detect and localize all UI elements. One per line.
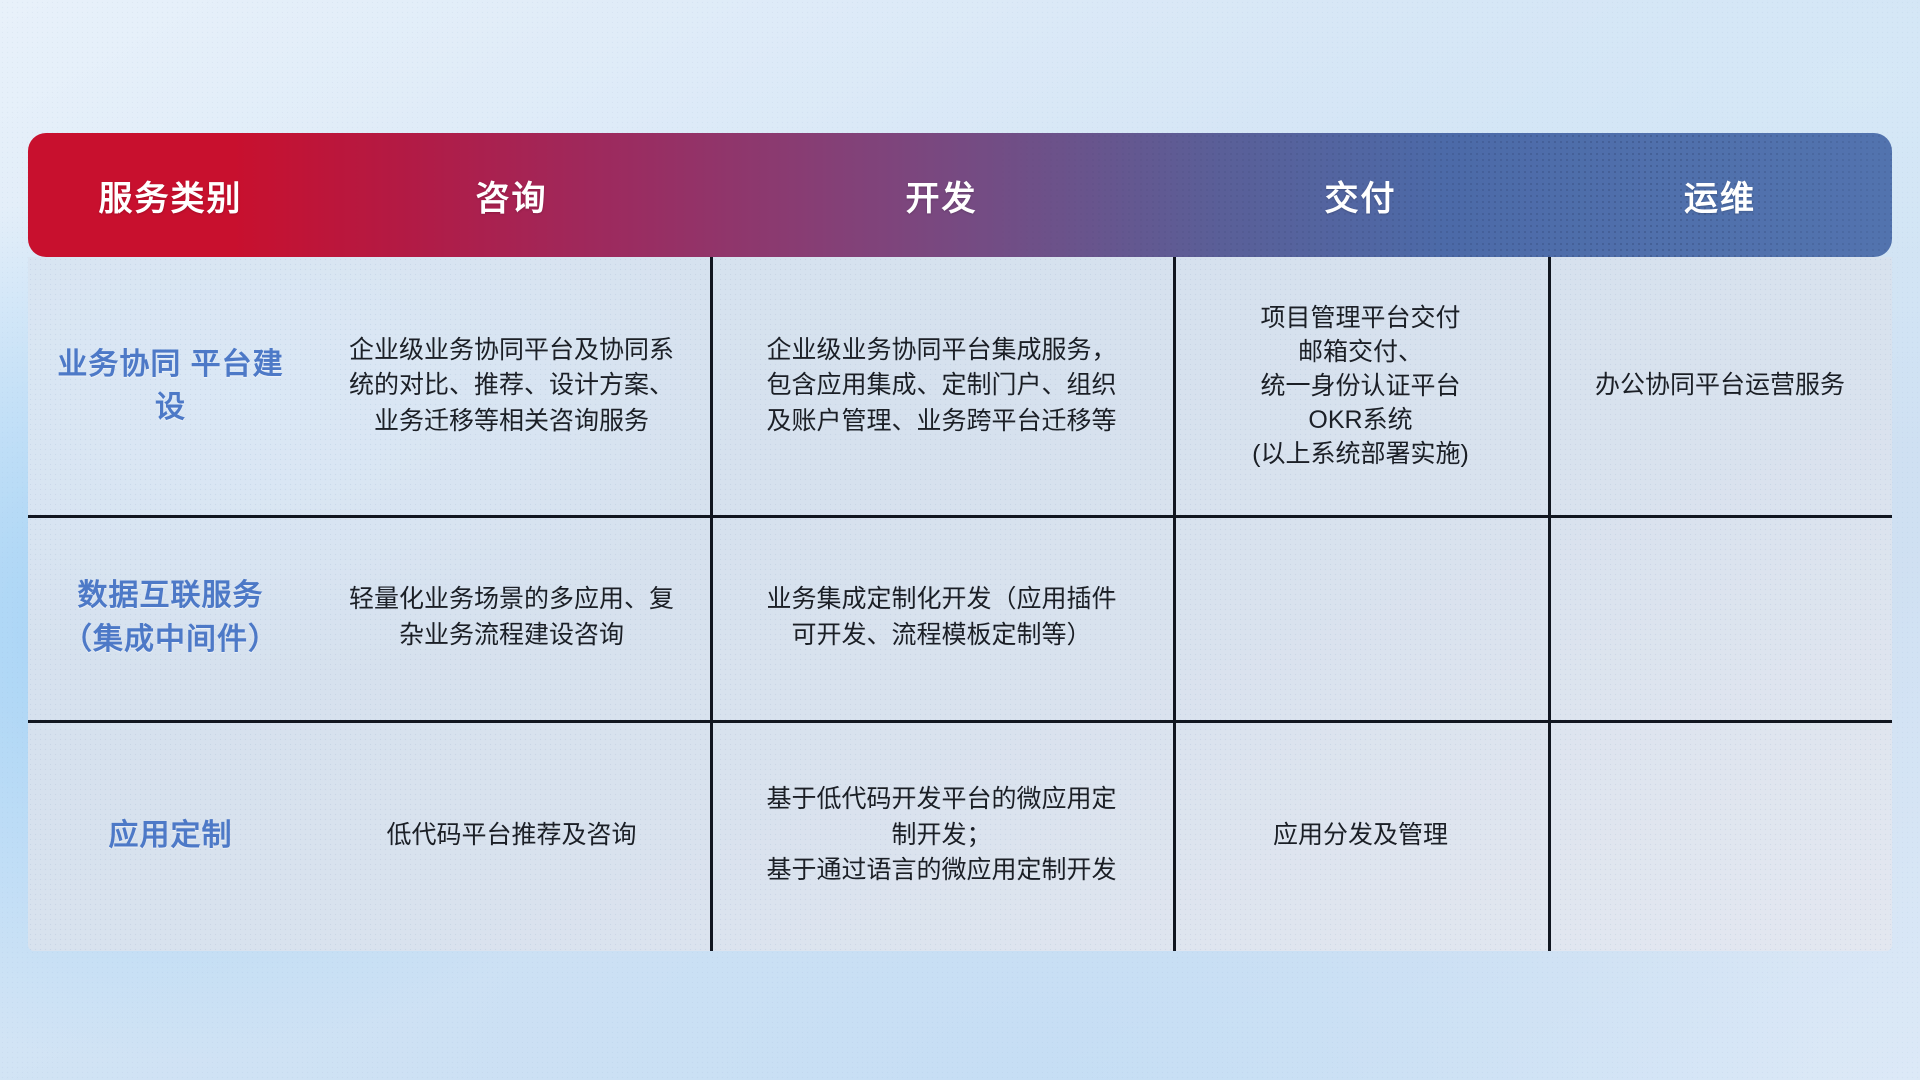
cell-consulting-text: 低代码平台推荐及咨询	[386, 818, 636, 854]
cell-delivery: 应用分发及管理	[1173, 720, 1548, 951]
cell-delivery: 项目管理平台交付 邮箱交付、 统一身份认证平台 OKR系统 (以上系统部署实施)	[1173, 257, 1548, 515]
cell-delivery-text: 项目管理平台交付 邮箱交付、 统一身份认证平台 OKR系统 (以上系统部署实施)	[1252, 301, 1469, 471]
column-header-operations: 运维	[1548, 133, 1892, 257]
column-header-development-label: 开发	[906, 171, 978, 220]
row-label-text: 业务协同 平台建设	[42, 343, 299, 430]
column-header-consulting: 咨询	[313, 133, 710, 257]
cell-delivery	[1173, 515, 1548, 720]
cell-development: 基于低代码开发平台的微应用定 制开发； 基于通过语言的微应用定制开发	[710, 720, 1173, 951]
cell-operations	[1548, 515, 1892, 720]
table-header-row: 服务类别 咨询 开发 交付 运维	[28, 133, 1892, 257]
cell-consulting: 企业级业务协同平台及协同系 统的对比、推荐、设计方案、 业务迁移等相关咨询服务	[313, 257, 710, 515]
cell-operations	[1548, 720, 1892, 951]
cell-development-text: 企业级业务协同平台集成服务， 包含应用集成、定制门户、组织 及账户管理、业务跨平…	[766, 333, 1116, 440]
row-label-text: 应用定制	[109, 814, 233, 858]
row-label-cell: 数据互联服务 （集成中间件）	[28, 515, 313, 720]
cell-delivery-text: 应用分发及管理	[1273, 818, 1448, 854]
column-header-category-label: 服务类别	[99, 171, 243, 220]
cell-consulting-text: 企业级业务协同平台及协同系 统的对比、推荐、设计方案、 业务迁移等相关咨询服务	[349, 333, 674, 440]
service-category-table: 服务类别 咨询 开发 交付 运维 业务协同 平台建设	[28, 133, 1892, 951]
table-row: 业务协同 平台建设 企业级业务协同平台及协同系 统的对比、推荐、设计方案、 业务…	[28, 257, 1892, 515]
table-row: 应用定制 低代码平台推荐及咨询 基于低代码开发平台的微应用定 制开发； 基于通过…	[28, 720, 1892, 951]
table-body: 业务协同 平台建设 企业级业务协同平台及协同系 统的对比、推荐、设计方案、 业务…	[28, 257, 1892, 951]
table-row: 数据互联服务 （集成中间件） 轻量化业务场景的多应用、复 杂业务流程建设咨询 业…	[28, 515, 1892, 720]
cell-development: 业务集成定制化开发（应用插件 可开发、流程模板定制等）	[710, 515, 1173, 720]
row-label-cell: 业务协同 平台建设	[28, 257, 313, 515]
cell-operations: 办公协同平台运营服务	[1548, 257, 1892, 515]
column-header-delivery-label: 交付	[1325, 171, 1397, 220]
row-label-cell: 应用定制	[28, 720, 313, 951]
cell-development: 企业级业务协同平台集成服务， 包含应用集成、定制门户、组织 及账户管理、业务跨平…	[710, 257, 1173, 515]
row-label-text: 数据互联服务 （集成中间件）	[42, 574, 299, 661]
page-root: 服务类别 咨询 开发 交付 运维 业务协同 平台建设	[0, 0, 1920, 1080]
cell-consulting-text: 轻量化业务场景的多应用、复 杂业务流程建设咨询	[349, 582, 674, 653]
cell-development-text: 基于低代码开发平台的微应用定 制开发； 基于通过语言的微应用定制开发	[766, 782, 1116, 889]
cell-development-text: 业务集成定制化开发（应用插件 可开发、流程模板定制等）	[766, 582, 1116, 653]
column-header-operations-label: 运维	[1684, 171, 1756, 220]
column-header-category: 服务类别	[28, 133, 313, 257]
column-header-consulting-label: 咨询	[476, 171, 548, 220]
cell-consulting: 轻量化业务场景的多应用、复 杂业务流程建设咨询	[313, 515, 710, 720]
cell-operations-text: 办公协同平台运营服务	[1595, 368, 1845, 404]
column-header-delivery: 交付	[1173, 133, 1548, 257]
cell-consulting: 低代码平台推荐及咨询	[313, 720, 710, 951]
column-header-development: 开发	[710, 133, 1173, 257]
